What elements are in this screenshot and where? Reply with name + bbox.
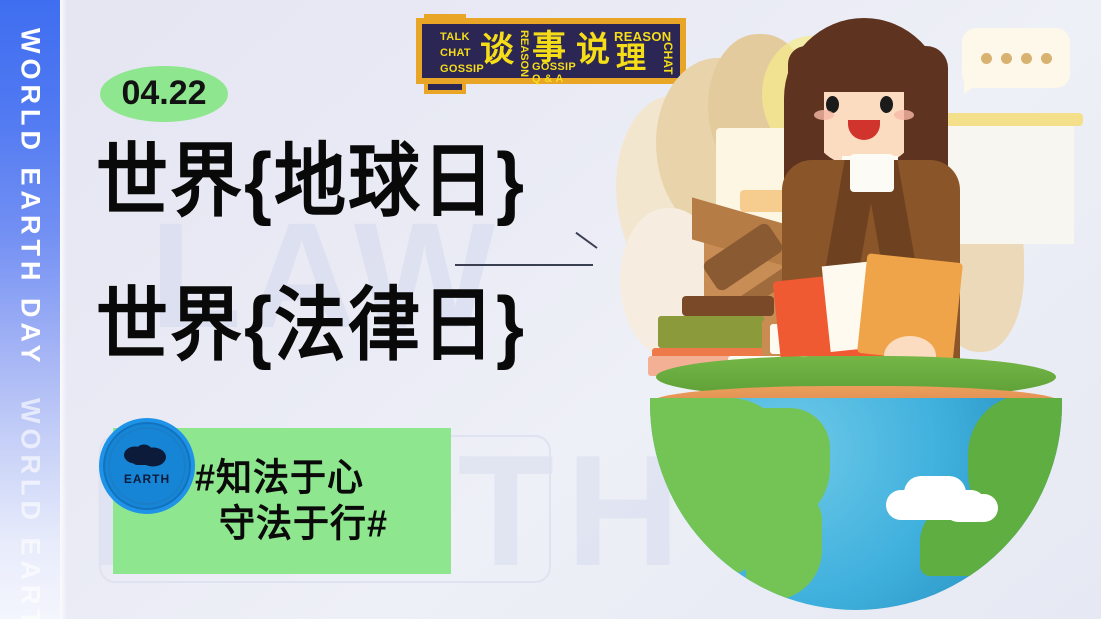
globe-sphere: [650, 398, 1062, 610]
date-badge-label: 04.22: [121, 74, 206, 113]
slogan-line-2: 守法于行#: [195, 500, 451, 548]
character-blush-right: [894, 110, 914, 120]
globe: [630, 356, 1082, 618]
logo-en-gossip: GOSSIP: [440, 64, 484, 75]
bubble-dot: [1001, 53, 1012, 64]
illustration: [612, 0, 1101, 619]
law-book: [658, 316, 764, 348]
logo-en-gossip-qa1: GOSSIP: [532, 62, 576, 73]
logo-cn-shuo: 说: [576, 33, 610, 67]
logo-en-reason-left: REASON: [518, 30, 529, 77]
earth-badge-ring: [108, 427, 186, 505]
headline-earth-day: 世界{地球日}: [96, 142, 526, 223]
logo-cn-tan: 谈: [480, 33, 514, 67]
poster-canvas: LAW EARTH WORLD EARTH DAY WORLD EARTH DA…: [0, 0, 1101, 619]
globe-landmass: [746, 490, 822, 600]
slogan-line-1: #知法于心: [195, 454, 451, 502]
earth-badge: EARTH: [99, 418, 195, 514]
sidebar-edge-fade: [60, 0, 67, 619]
logo-cn-shi: 事: [532, 31, 566, 65]
bubble-dot: [1041, 53, 1052, 64]
character-eye-right: [880, 96, 893, 113]
gavel-block: [682, 296, 774, 316]
arrow-head-icon: [571, 247, 595, 265]
sidebar-title-secondary: WORLD EARTH DAY: [15, 398, 46, 619]
date-badge: 04.22: [100, 66, 228, 122]
sidebar-band: WORLD EARTH DAY WORLD EARTH DAY: [0, 0, 60, 619]
character-blush-left: [814, 110, 834, 120]
globe-cloud: [944, 494, 998, 522]
headline-law-day: 世界{法律日}: [96, 286, 526, 367]
sidebar-title: WORLD EARTH DAY: [15, 28, 46, 368]
bubble-dot: [981, 53, 992, 64]
speech-bubble-tail: [964, 78, 986, 94]
bubble-dot: [1021, 53, 1032, 64]
logo-en-gossip-qa2: Q & A: [532, 74, 564, 85]
logo-en-chat: CHAT: [440, 48, 471, 59]
character-collar: [850, 154, 894, 192]
logo-en-talk: TALK: [440, 32, 470, 43]
